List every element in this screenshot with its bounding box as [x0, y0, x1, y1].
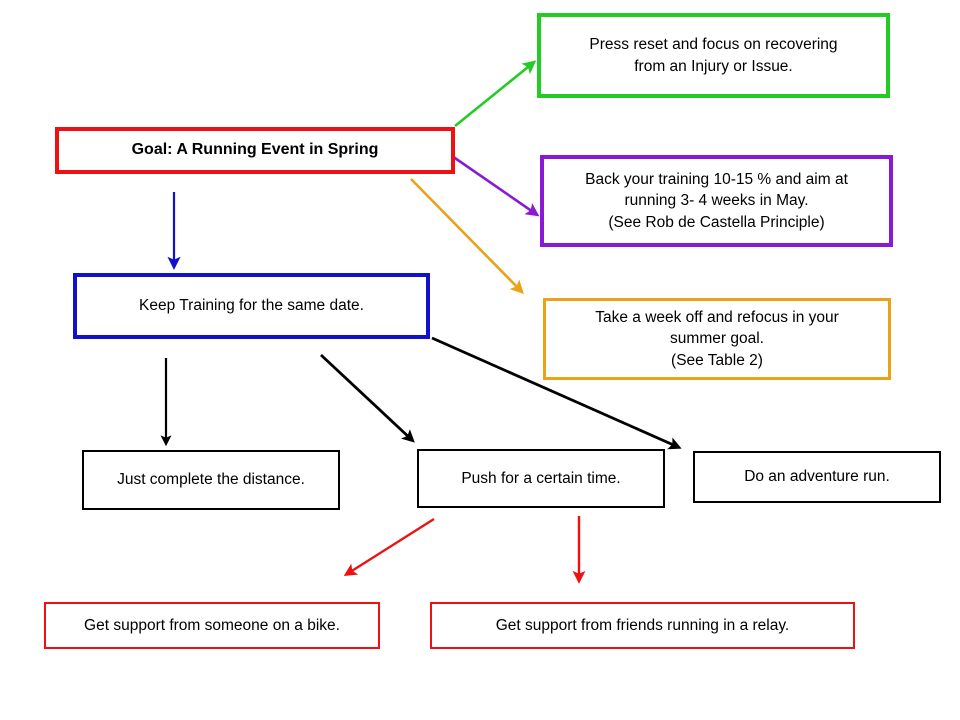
complete-distance-box[interactable]: Just complete the distance. — [82, 450, 340, 510]
arrow-goal-to-reset — [455, 63, 533, 126]
certain-time-box-label: Push for a certain time. — [419, 468, 663, 489]
goal-box[interactable]: Goal: A Running Event in Spring — [55, 127, 455, 174]
keep-training-box-label: Keep Training for the same date. — [77, 295, 426, 316]
press-reset-box[interactable]: Press reset and focus on recovering from… — [537, 13, 890, 98]
week-off-box[interactable]: Take a week off and refocus in your summ… — [543, 298, 891, 380]
adventure-run-box-label: Do an adventure run. — [695, 466, 939, 487]
press-reset-box-label: Press reset and focus on recovering from… — [541, 34, 886, 77]
keep-training-box[interactable]: Keep Training for the same date. — [73, 273, 430, 339]
complete-distance-box-label: Just complete the distance. — [84, 469, 338, 490]
back-training-box[interactable]: Back your training 10-15 % and aim at ru… — [540, 155, 893, 247]
bike-support-box[interactable]: Get support from someone on a bike. — [44, 602, 380, 649]
arrow-time-to-bike-support — [347, 519, 434, 574]
back-training-box-label: Back your training 10-15 % and aim at ru… — [544, 169, 889, 233]
relay-support-box[interactable]: Get support from friends running in a re… — [430, 602, 855, 649]
bike-support-box-label: Get support from someone on a bike. — [46, 615, 378, 636]
week-off-box-label: Take a week off and refocus in your summ… — [546, 307, 888, 371]
adventure-run-box[interactable]: Do an adventure run. — [693, 451, 941, 503]
arrow-keep-training-to-time — [321, 355, 412, 440]
relay-support-box-label: Get support from friends running in a re… — [432, 615, 853, 636]
arrow-goal-to-back-training — [452, 156, 536, 214]
flowchart-canvas: Goal: A Running Event in Spring Press re… — [0, 0, 960, 720]
goal-box-label: Goal: A Running Event in Spring — [59, 139, 451, 161]
certain-time-box[interactable]: Push for a certain time. — [417, 449, 665, 508]
